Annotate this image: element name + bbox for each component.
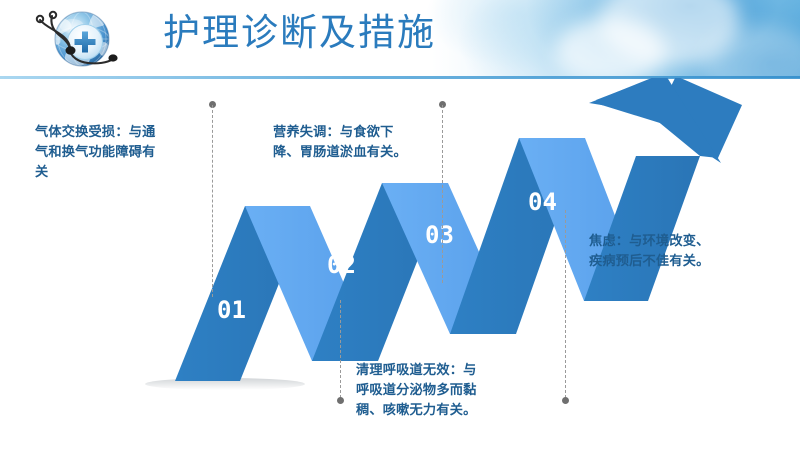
callout-text-01: 气体交换受损：与通 气和换气功能障碍有 关	[35, 122, 185, 182]
connector-stem-04	[565, 210, 566, 398]
connector-dot-04	[562, 397, 569, 404]
step-number-04: 04	[528, 188, 557, 216]
page-title: 护理诊断及措施	[163, 9, 436, 57]
callout-text-02: 营养失调：与食欲下 降、胃肠道淤血有关。	[273, 122, 451, 162]
globe-medical-cross-stethoscope-logo	[22, 4, 134, 74]
callout-text-03: 清理呼吸道无效：与 呼吸道分泌物多而黏 稠、咳嗽无力有关。	[356, 360, 546, 420]
step-number-01: 01	[217, 296, 246, 324]
connector-stem-03	[340, 300, 341, 398]
connector-dot-03	[337, 397, 344, 404]
slide-canvas: 护理诊断及措施	[0, 0, 800, 450]
step-number-02: 02	[327, 251, 356, 279]
connector-stem-01	[212, 105, 213, 297]
cloud-texture-c	[555, 18, 665, 78]
step-number-03: 03	[425, 221, 454, 249]
callout-text-04: 焦虑：与环境改变、 疾病预后不佳有关。	[589, 231, 779, 271]
